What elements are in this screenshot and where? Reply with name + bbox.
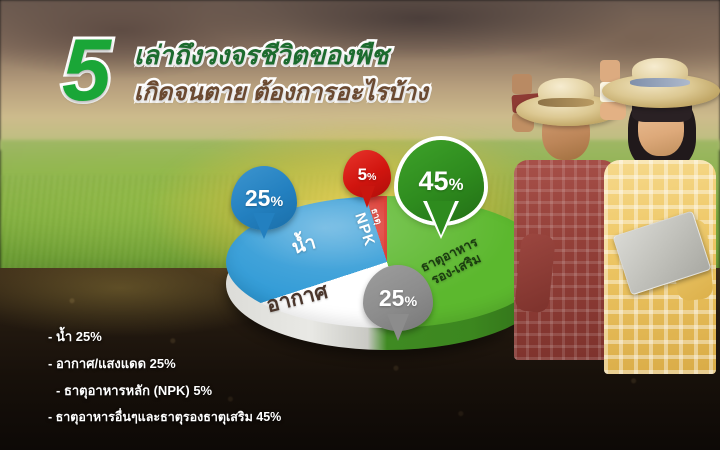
legend-item-air: - อากาศ/แสงแดด 25% xyxy=(48,357,348,370)
man-hat-band xyxy=(538,98,594,107)
infographic-canvas: 5 เล่าถึงวงจรชีวิตของพืช เกิดจนตาย ต้องก… xyxy=(0,0,720,450)
woman-hat-band xyxy=(630,78,690,87)
headline-line-2: เกิดจนตาย ต้องการอะไรบ้าง xyxy=(134,80,428,105)
map-pin-marker-air[interactable]: 25% xyxy=(363,265,433,331)
legend-item-other-nutrients: - ธาตุอาหารอื่นๆและธาตุรองธาตุเสริม 45% xyxy=(48,411,348,424)
marker-value-npk: 5% xyxy=(358,166,377,183)
pin-shape-npk: 5% xyxy=(343,150,391,198)
marker-value-nutrients: 45% xyxy=(419,168,464,195)
pin-shape-water: 25% xyxy=(231,166,297,230)
pin-shape-air: 25% xyxy=(363,265,433,331)
map-pin-marker-water[interactable]: 25% xyxy=(231,166,297,230)
map-pin-marker-nutrients[interactable]: 45% xyxy=(398,140,484,222)
marker-value-water: 25% xyxy=(245,187,283,210)
woman-hand xyxy=(600,102,626,120)
marker-value-air: 25% xyxy=(379,287,417,310)
headline-line-1: เล่าถึงวงจรชีวิตของพืช xyxy=(134,42,388,69)
headline-block: 5 เล่าถึงวงจรชีวิตของพืช เกิดจนตาย ต้องก… xyxy=(62,28,492,124)
headline-number: 5 xyxy=(62,26,109,114)
legend-item-water: - น้ำ 25% xyxy=(48,330,348,343)
legend-list: - น้ำ 25% - อากาศ/แสงแดด 25% - ธาตุอาหาร… xyxy=(48,330,348,438)
photo-farmers xyxy=(512,52,720,382)
pin-shape-nutrients: 45% xyxy=(398,140,484,222)
legend-item-npk: - ธาตุอาหารหลัก (NPK) 5% xyxy=(56,384,348,397)
man-neck xyxy=(512,74,532,94)
map-pin-marker-npk[interactable]: 5% xyxy=(343,150,391,198)
pin-tip-nutrients xyxy=(427,201,455,235)
